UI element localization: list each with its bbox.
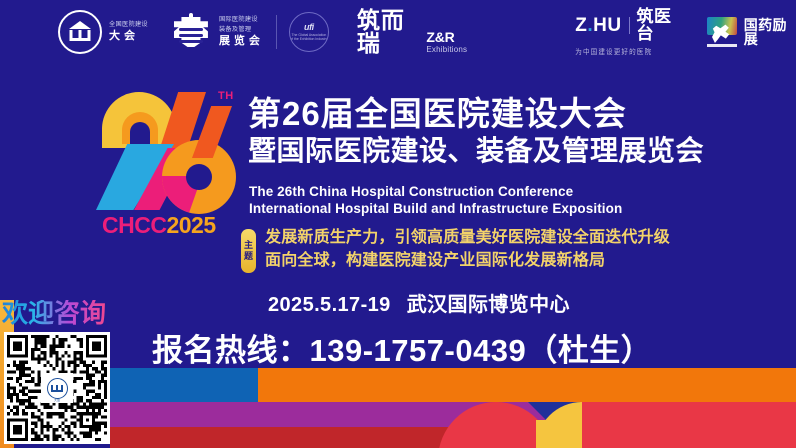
exhibition-subtitle-line1: 国际医院建设 xyxy=(219,17,264,23)
exhibition-subtitle-line2: 装备及管理 xyxy=(219,27,264,33)
qr-center-emblem-icon xyxy=(47,378,68,399)
zr-english-sub: Exhibitions xyxy=(426,46,467,54)
hotline-text[interactable]: 报名热线：139-1757-0439（杜生） xyxy=(152,325,652,370)
logo-shape-six-hole xyxy=(186,164,212,190)
page-title-english-line1: The 26th China Hospital Construction Con… xyxy=(249,185,573,199)
reed-chinese-name: 国药励展 xyxy=(744,18,796,46)
decorative-color-bands xyxy=(0,368,796,448)
event-venue: 武汉国际博览中心 xyxy=(407,294,570,316)
ufi-mark: ufi xyxy=(290,22,328,32)
sponsor-ufi: ufi The Global Association of the Exhibi… xyxy=(289,12,329,52)
zhu-chinese-name: 筑医台 xyxy=(636,8,682,42)
zhu-slogan: 为中国建设更好的医院 xyxy=(575,46,652,56)
sponsor-zhuyitai: Z.HU 筑医台 为中国建设更好的医院 xyxy=(575,8,683,56)
band-red-right xyxy=(570,402,796,448)
theme-line1: 发展新质生产力，引领高质量美好医院建设全面迭代升级 xyxy=(265,229,670,247)
sponsor-divider xyxy=(276,15,277,49)
theme-badge-char2: 题 xyxy=(244,252,253,261)
sponsor-reed-sinopharm: 国药励展 Reed Sinopharm Exhibitions xyxy=(705,17,796,47)
exhibition-title: 展览会 xyxy=(219,36,264,47)
event-dateline: 2025.5.17-19武汉国际博览中心 xyxy=(268,288,570,317)
building-emblem-icon xyxy=(58,10,102,54)
qr-center-label: 大会 xyxy=(41,398,73,402)
national-conference-title: 大会 xyxy=(109,31,148,42)
national-conference-subtitle: 全国医院建设 xyxy=(109,22,148,28)
zhu-divider xyxy=(629,17,630,34)
poster-canvas: 全国医院建设 大会 国际医院建设 装备及管理 展览会 ufi xyxy=(0,0,796,448)
theme-badge: 主 题 xyxy=(241,229,256,273)
sponsor-international-exhibition: 国际医院建设 装备及管理 展览会 xyxy=(170,11,264,53)
page-title-english-line2: International Hospital Build and Infrast… xyxy=(249,202,622,216)
zr-english-mark: Z&R xyxy=(426,30,467,44)
sponsor-national-conference: 全国医院建设 大会 xyxy=(58,10,148,54)
zhu-wordmark: Z.HU xyxy=(575,16,621,35)
theme-block: 主 题 发展新质生产力，引领高质量美好医院建设全面迭代升级 面向全球，构建医院建… xyxy=(241,229,670,273)
qr-center-logo: 大会 xyxy=(41,373,73,403)
reed-sinopharm-icon xyxy=(705,17,739,47)
chcc-26-logo: TH CHCC2025 xyxy=(96,88,246,238)
chcc-wordmark: CHCC2025 xyxy=(102,214,216,237)
sponsor-topbar: 全国医院建设 大会 国际医院建设 装备及管理 展览会 ufi xyxy=(0,0,796,64)
page-title-line2: 暨国际医院建设、装备及管理展览会 xyxy=(248,137,704,165)
logo-superscript-th: TH xyxy=(218,90,234,102)
chcc-wordmark-letters: CHCC xyxy=(102,212,166,238)
chcc-wordmark-year: 2025 xyxy=(166,212,215,238)
band-orange xyxy=(258,368,796,402)
theme-line2: 面向全球，构建医院建设产业国际化发展新格局 xyxy=(265,252,670,270)
zr-chinese-name: 筑而瑞 xyxy=(357,9,422,55)
ufi-subtitle: The Global Association of the Exhibition… xyxy=(290,33,328,42)
theme-badge-char1: 主 xyxy=(244,241,253,250)
event-date: 2025.5.17-19 xyxy=(268,294,391,316)
ufi-badge-icon: ufi The Global Association of the Exhibi… xyxy=(289,12,329,52)
poster-main-body: TH CHCC2025 第26届全国医院建设大会 暨国际医院建设、装备及管理展览… xyxy=(0,64,796,368)
sponsor-zr-exhibitions: 筑而瑞 Z&R Exhibitions xyxy=(357,9,467,55)
page-title-line1: 第26届全国医院建设大会 xyxy=(248,97,627,130)
snowflake-cross-icon xyxy=(170,11,212,53)
logo-shape-two-hole xyxy=(130,122,150,144)
welcome-text: 欢迎咨询 xyxy=(2,300,106,326)
band-blue xyxy=(110,368,258,402)
